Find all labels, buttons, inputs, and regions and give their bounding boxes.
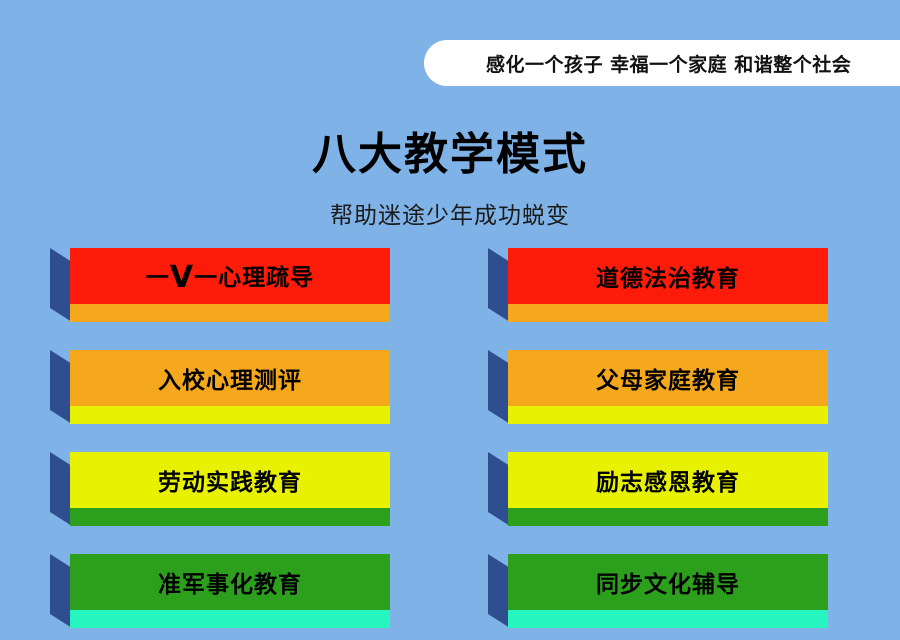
ribbon-label: 准军事化教育 (158, 565, 302, 599)
ribbon-label: 励志感恩教育 (596, 463, 740, 497)
ribbon-fold (50, 248, 72, 322)
ribbon-strip (508, 508, 828, 526)
ribbon-item[interactable]: 劳动实践教育 (50, 452, 390, 526)
ribbon-item[interactable]: 同步文化辅导 (488, 554, 828, 628)
ribbon-label: 入校心理测评 (158, 361, 302, 395)
ribbon-face: 父母家庭教育 (508, 350, 828, 406)
ribbon-face: 准军事化教育 (70, 554, 390, 610)
ribbon-label: 同步文化辅导 (596, 565, 740, 599)
ribbon-face: 劳动实践教育 (70, 452, 390, 508)
ribbon-item[interactable]: 入校心理测评 (50, 350, 390, 424)
ribbon-fold (488, 248, 510, 322)
ribbon-label: 一V一心理疏导 (146, 258, 314, 295)
ribbon-strip (70, 508, 390, 526)
ribbon-label-v-mark: V (170, 260, 194, 295)
ribbon-face: 励志感恩教育 (508, 452, 828, 508)
ribbon-fold (488, 452, 510, 526)
ribbon-fold (50, 350, 72, 424)
ribbon-face: 道德法治教育 (508, 248, 828, 304)
ribbon-face: 入校心理测评 (70, 350, 390, 406)
ribbon-item[interactable]: 父母家庭教育 (488, 350, 828, 424)
ribbon-fold (488, 350, 510, 424)
ribbon-item[interactable]: 励志感恩教育 (488, 452, 828, 526)
tagline-text: 感化一个孩子 幸福一个家庭 和谐整个社会 (486, 50, 851, 77)
page-subtitle: 帮助迷途少年成功蜕变 (0, 196, 900, 230)
ribbon-face: 一V一心理疏导 (70, 248, 390, 304)
ribbon-fold (50, 452, 72, 526)
ribbon-item[interactable]: 一V一心理疏导 (50, 248, 390, 322)
ribbon-strip (508, 304, 828, 322)
ribbon-fold (488, 554, 510, 628)
ribbon-strip (70, 610, 390, 628)
tagline-banner: 感化一个孩子 幸福一个家庭 和谐整个社会 (424, 40, 900, 86)
ribbon-label: 道德法治教育 (596, 259, 740, 293)
ribbon-label: 劳动实践教育 (158, 463, 302, 497)
page-title: 八大教学模式 (0, 118, 900, 182)
ribbon-strip (70, 304, 390, 322)
ribbon-label: 父母家庭教育 (596, 361, 740, 395)
ribbon-item[interactable]: 准军事化教育 (50, 554, 390, 628)
ribbon-label-part-before: 一 (146, 265, 170, 291)
ribbon-fold (50, 554, 72, 628)
ribbon-label-part-after: 一心理疏导 (194, 265, 314, 291)
ribbon-strip (508, 610, 828, 628)
ribbon-face: 同步文化辅导 (508, 554, 828, 610)
ribbon-item[interactable]: 道德法治教育 (488, 248, 828, 322)
poster-canvas: 感化一个孩子 幸福一个家庭 和谐整个社会 八大教学模式 帮助迷途少年成功蜕变 一… (0, 0, 900, 640)
ribbon-strip (508, 406, 828, 424)
ribbon-strip (70, 406, 390, 424)
